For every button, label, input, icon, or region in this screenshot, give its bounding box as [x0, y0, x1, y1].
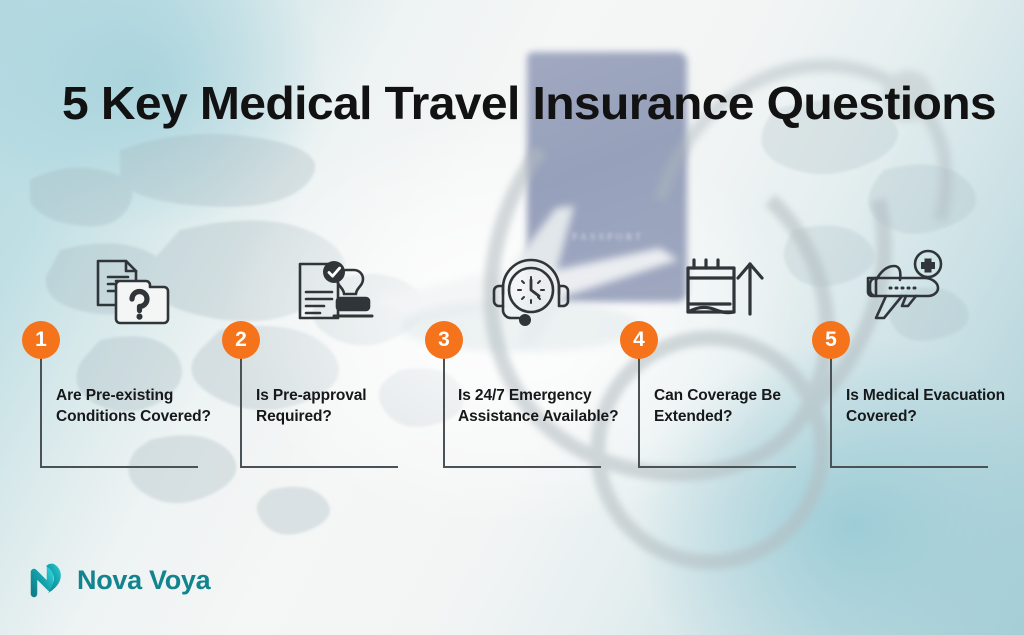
- airplane-medical-cross-icon: [862, 248, 950, 328]
- step-badge-4: 4: [620, 321, 658, 359]
- step-badge-2: 2: [222, 321, 260, 359]
- nova-voya-swoosh-icon: [30, 560, 68, 600]
- brand-logo[interactable]: Nova Voya: [30, 560, 210, 600]
- calendar-up-arrow-icon: [678, 248, 766, 328]
- infographic-canvas: PASSPORT 5 Key Medical Travel Insurance …: [0, 0, 1024, 635]
- headset-clock-icon: [487, 250, 575, 330]
- step-badge-1: 1: [22, 321, 60, 359]
- step-bracket-1: [40, 368, 198, 468]
- step-bracket-5: [830, 368, 988, 468]
- brand-name: Nova Voya: [77, 565, 210, 595]
- step-bracket-4: [638, 368, 796, 468]
- step-badge-3: 3: [425, 321, 463, 359]
- step-bracket-3: [443, 368, 601, 468]
- step-badge-5: 5: [812, 321, 850, 359]
- step-item-5[interactable]: 5 Is Medical Evacuation Covered?: [0, 0, 210, 635]
- stethoscope-photo-top: [640, 40, 970, 260]
- step-bracket-2: [240, 368, 398, 468]
- document-approved-stamp-icon: [292, 250, 380, 330]
